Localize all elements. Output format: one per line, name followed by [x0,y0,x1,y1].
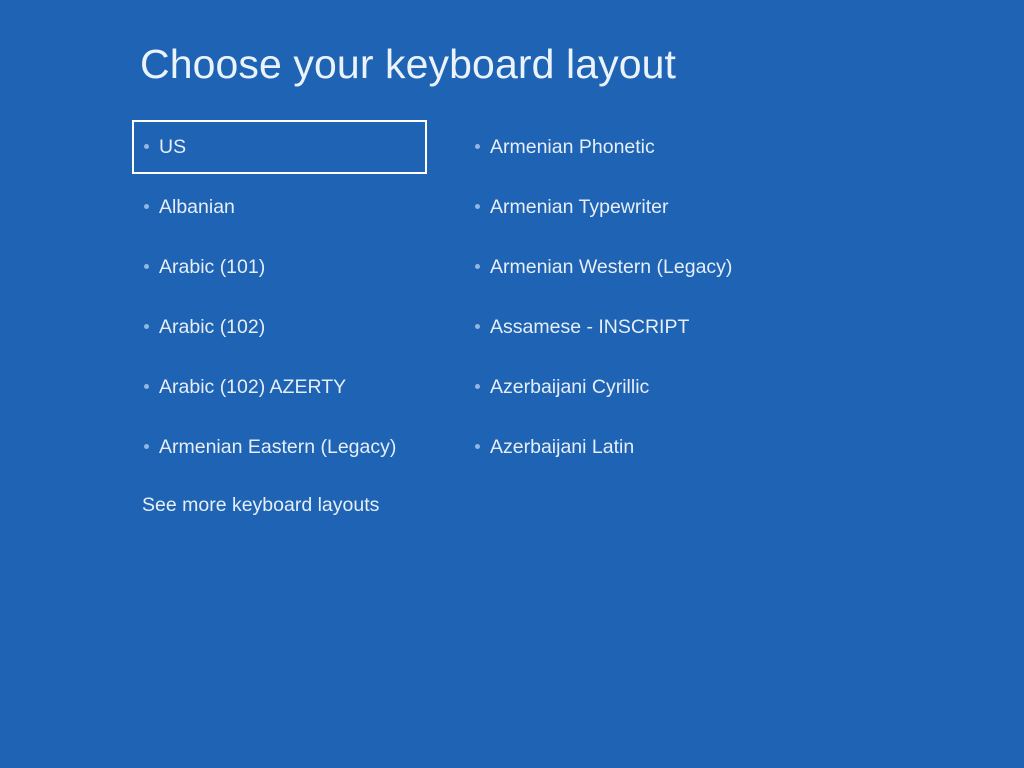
layout-column-left: US Albanian Arabic (101) Arabic (102) Ar… [132,120,432,480]
layout-column-right: Armenian Phonetic Armenian Typewriter Ar… [463,120,793,480]
bullet-icon [144,204,149,209]
layout-item-armenian-eastern-legacy[interactable]: Armenian Eastern (Legacy) [132,420,432,474]
bullet-icon [475,444,480,449]
layout-item-azerbaijani-cyrillic[interactable]: Azerbaijani Cyrillic [463,360,793,414]
layout-item-label: Armenian Phonetic [490,135,655,159]
bullet-icon [144,264,149,269]
layout-item-arabic-101[interactable]: Arabic (101) [132,240,432,294]
layout-item-armenian-phonetic[interactable]: Armenian Phonetic [463,120,793,174]
layout-item-label: Azerbaijani Cyrillic [490,375,649,399]
see-more-keyboard-layouts-link[interactable]: See more keyboard layouts [142,492,379,518]
layout-item-label: Armenian Western (Legacy) [490,255,732,279]
layout-item-label: Arabic (101) [159,255,265,279]
bullet-icon [144,324,149,329]
layout-item-label: Armenian Eastern (Legacy) [159,435,396,459]
layout-item-arabic-102-azerty[interactable]: Arabic (102) AZERTY [132,360,432,414]
bullet-icon [144,144,149,149]
layout-item-armenian-typewriter[interactable]: Armenian Typewriter [463,180,793,234]
layout-item-label: Arabic (102) AZERTY [159,375,346,399]
layout-item-label: Assamese - INSCRIPT [490,315,689,339]
layout-item-us[interactable]: US [132,120,427,174]
layout-item-arabic-102[interactable]: Arabic (102) [132,300,432,354]
layout-item-label: Azerbaijani Latin [490,435,634,459]
bullet-icon [475,264,480,269]
layout-item-label: Albanian [159,195,235,219]
bullet-icon [475,324,480,329]
bullet-icon [475,204,480,209]
bullet-icon [475,144,480,149]
bullet-icon [144,444,149,449]
bullet-icon [144,384,149,389]
layout-item-armenian-western-legacy[interactable]: Armenian Western (Legacy) [463,240,793,294]
layout-item-assamese-inscript[interactable]: Assamese - INSCRIPT [463,300,793,354]
layout-item-label: Armenian Typewriter [490,195,668,219]
bullet-icon [475,384,480,389]
keyboard-layout-screen: Choose your keyboard layout US Albanian … [0,0,1024,768]
page-title: Choose your keyboard layout [140,38,676,90]
layout-item-label: US [159,135,186,159]
layout-item-azerbaijani-latin[interactable]: Azerbaijani Latin [463,420,793,474]
layout-item-label: Arabic (102) [159,315,265,339]
layout-item-albanian[interactable]: Albanian [132,180,432,234]
